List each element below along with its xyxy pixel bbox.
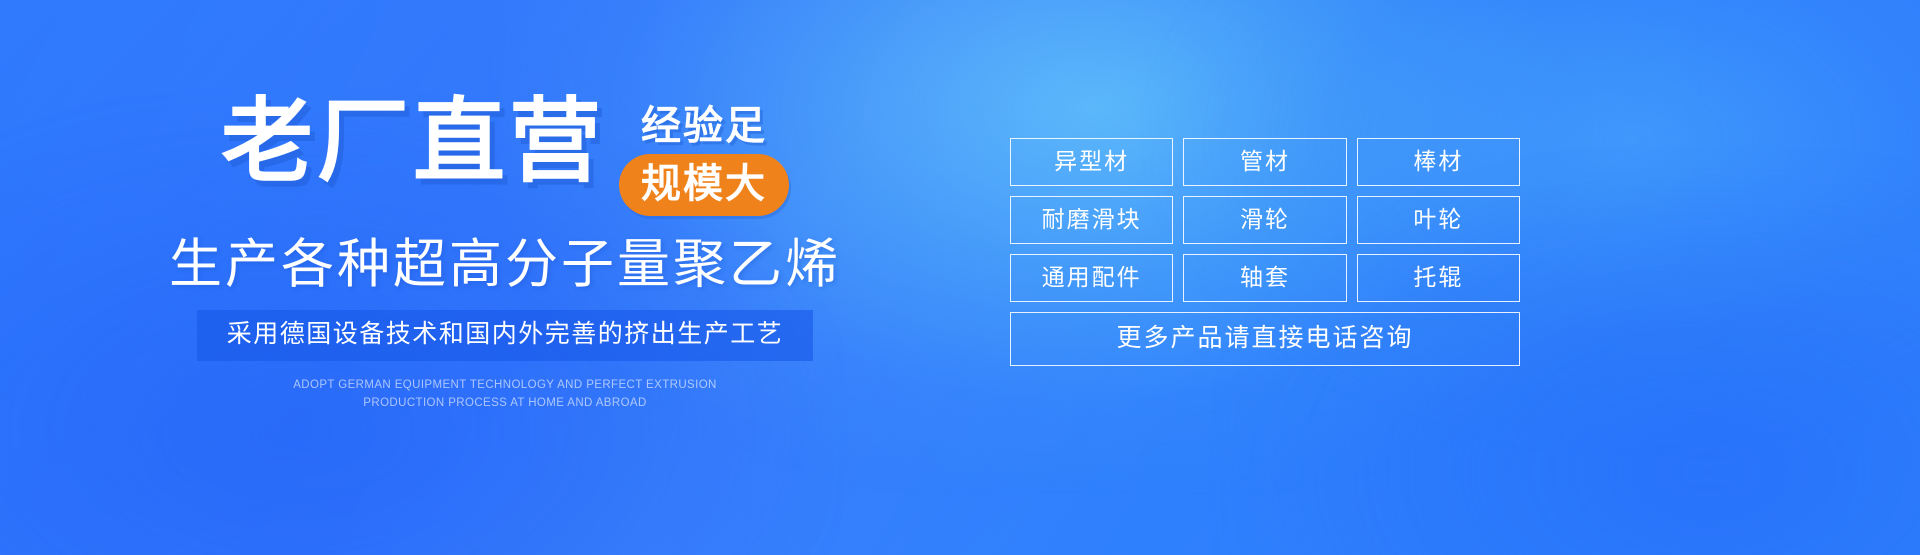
product-chip-tuogun[interactable]: 托辊 — [1357, 254, 1520, 302]
english-caption-line-2: PRODUCTION PROCESS AT HOME AND ABROAD — [0, 395, 1010, 413]
promo-banner: 老厂直营 经验足 规模大 生产各种超高分子量聚乙烯 采用德国设备技术和国内外完善… — [0, 0, 1920, 555]
product-row: 异型材 管材 棒材 — [1010, 138, 1520, 186]
more-products-button[interactable]: 更多产品请直接电话咨询 — [1010, 312, 1520, 366]
english-caption-line-1: ADOPT GERMAN EQUIPMENT TECHNOLOGY AND PE… — [0, 377, 1010, 395]
product-chip-guancai[interactable]: 管材 — [1183, 138, 1346, 186]
process-strip: 采用德国设备技术和国内外完善的挤出生产工艺 — [197, 310, 814, 361]
product-chip-tongyongpeijian[interactable]: 通用配件 — [1010, 254, 1173, 302]
product-category-grid: 异型材 管材 棒材 耐磨滑块 滑轮 叶轮 通用配件 轴套 托辊 更多产品请直接电… — [1010, 138, 1520, 366]
page-title: 老厂直营 — [221, 96, 605, 188]
tag-scale-badge: 规模大 — [619, 154, 789, 216]
product-chip-yixingcai[interactable]: 异型材 — [1010, 138, 1173, 186]
process-strip-wrapper: 采用德国设备技术和国内外完善的挤出生产工艺 — [0, 310, 1010, 361]
headline-row: 老厂直营 经验足 规模大 — [0, 96, 1010, 216]
product-chip-yelun[interactable]: 叶轮 — [1357, 196, 1520, 244]
subtitle: 生产各种超高分子量聚乙烯 — [0, 236, 1010, 294]
english-caption: ADOPT GERMAN EQUIPMENT TECHNOLOGY AND PE… — [0, 377, 1010, 413]
product-chip-hualun[interactable]: 滑轮 — [1183, 196, 1346, 244]
product-chip-bangcai[interactable]: 棒材 — [1357, 138, 1520, 186]
product-chip-naimohuakuai[interactable]: 耐磨滑块 — [1010, 196, 1173, 244]
product-chip-zhoutao[interactable]: 轴套 — [1183, 254, 1346, 302]
product-row: 通用配件 轴套 托辊 — [1010, 254, 1520, 302]
headline-tags: 经验足 规模大 — [619, 96, 789, 216]
tag-experience: 经验足 — [641, 106, 767, 146]
headline-block: 老厂直营 经验足 规模大 生产各种超高分子量聚乙烯 采用德国设备技术和国内外完善… — [0, 96, 1010, 413]
product-row: 耐磨滑块 滑轮 叶轮 — [1010, 196, 1520, 244]
